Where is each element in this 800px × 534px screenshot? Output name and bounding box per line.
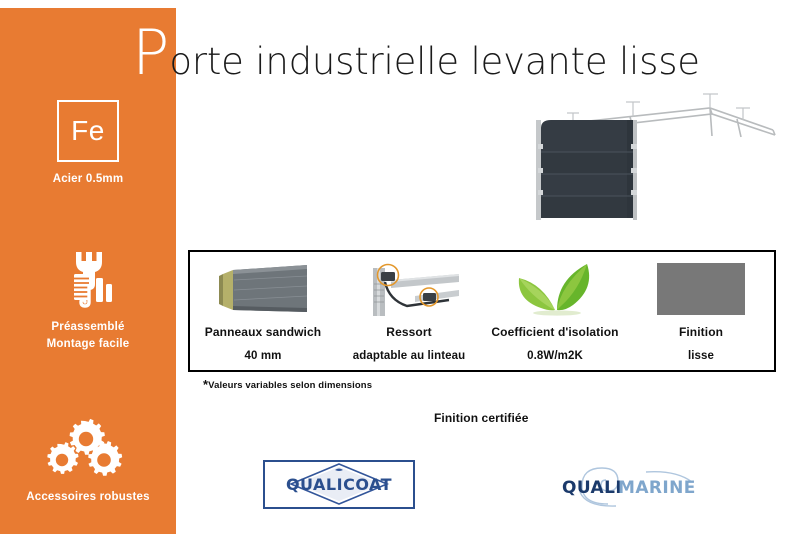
wrench-tools-icon — [0, 248, 176, 310]
sandwich-panel-image — [190, 258, 336, 320]
feature-finition: Finition lisse — [628, 252, 774, 370]
slide-root: Fe Acier 0.5mm — [0, 0, 800, 534]
fe-element-box-icon: Fe — [57, 100, 119, 162]
svg-text:MARINE: MARINE — [618, 478, 696, 498]
sidebar-item-acier: Fe Acier 0.5mm — [0, 100, 176, 188]
svg-text:QUALI: QUALI — [562, 478, 622, 498]
gears-icon — [0, 418, 176, 480]
page-title-initial: P — [132, 22, 169, 84]
sidebar-label-montage: Montage facile — [0, 336, 176, 353]
feature-panneaux-sandwich: Panneaux sandwich 40 mm — [190, 252, 336, 370]
feature-value: 0.8W/m2K — [527, 350, 583, 362]
feature-title: Coefficient d'isolation — [491, 325, 618, 339]
qualicoat-logo: QUALICOAT — [263, 460, 415, 509]
sidebar-label-acier: Acier 0.5mm — [0, 171, 176, 188]
sidebar-item-accessoires: Accessoires robustes — [0, 418, 176, 506]
sidebar-item-preassemble: Préassemblé Montage facile — [0, 248, 176, 353]
feature-title: Panneaux sandwich — [205, 325, 321, 339]
qualimarine-logo: QUALI MARINE — [556, 464, 708, 508]
fe-symbol-label: Fe — [71, 117, 105, 145]
industrial-sectional-door-image — [505, 86, 785, 226]
footnote-text: Valeurs variables selon dimensions — [208, 380, 372, 391]
page-title-rest: orte industrielle levante lisse — [169, 38, 699, 86]
swatch-grey — [657, 263, 745, 315]
feature-ressort: Ressort adaptable au linteau — [336, 252, 482, 370]
sidebar-label-preassemble: Préassemblé — [0, 319, 176, 336]
sidebar-label-accessoires: Accessoires robustes — [0, 489, 176, 506]
spring-mechanism-image — [336, 258, 482, 320]
feature-value: lisse — [688, 350, 714, 362]
feature-title: Ressort — [386, 325, 431, 339]
feature-value: 40 mm — [245, 350, 282, 362]
svg-text:QUALICOAT: QUALICOAT — [286, 475, 392, 494]
feature-title: Finition — [679, 325, 723, 339]
green-leaves-icon — [482, 258, 628, 320]
feature-panel: Panneaux sandwich 40 mm — [188, 250, 776, 372]
feature-value: adaptable au linteau — [353, 350, 466, 362]
finish-color-swatch — [628, 258, 774, 320]
page-title: Porte industrielle levante lisse — [132, 22, 700, 84]
footnote: *Valeurs variables selon dimensions — [203, 380, 372, 391]
certification-label: Finition certifiée — [434, 411, 528, 425]
feature-coefficient-isolation: Coefficient d'isolation 0.8W/m2K — [482, 252, 628, 370]
